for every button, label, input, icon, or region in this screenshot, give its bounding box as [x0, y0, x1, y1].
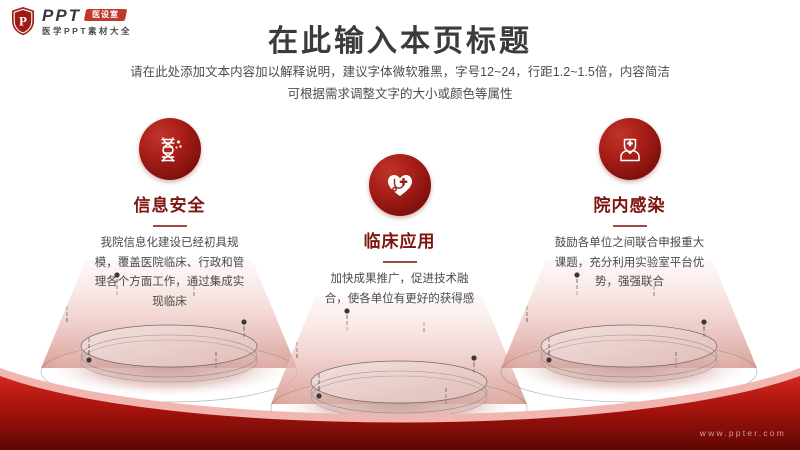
footer-website: www.ppter.com	[700, 428, 786, 438]
subtitle-line-1: 请在此处添加文本内容加以解释说明，建议字体微软雅黑，字号12~24，行距1.2~…	[80, 62, 720, 84]
heading-divider	[383, 261, 417, 263]
heading-divider	[613, 225, 647, 227]
slide-canvas: P PPT 医设室 医学PPT素材大全 在此输入本页标题 请在此处添加文本内容加…	[0, 0, 800, 450]
column-body-text: 鼓励各单位之间联合申报重大课题，充分利用实验室平台优势，强强联合	[555, 234, 705, 293]
subtitle-line-2: 可根据需求调整文字的大小或颜色等属性	[80, 84, 720, 106]
column-hospital-infection[interactable]: 院内感染 鼓励各单位之间联合申报重大课题，充分利用实验室平台优势，强强联合	[512, 118, 747, 293]
column-body-text: 加快成果推广，促进技术融合，使各单位有更好的获得感	[325, 270, 475, 309]
column-info-security[interactable]: 信息安全 我院信息化建设已经初具规模，覆盖医院临床、行政和管理各个方面工作，通过…	[52, 118, 287, 312]
column-heading: 信息安全	[52, 191, 287, 216]
column-heading: 院内感染	[512, 191, 747, 216]
heart-stethoscope-icon[interactable]	[369, 154, 431, 216]
bottom-wave-decoration	[0, 360, 800, 450]
doctor-icon[interactable]	[599, 118, 661, 180]
page-title: 在此输入本页标题	[0, 16, 800, 60]
column-heading: 临床应用	[282, 227, 517, 252]
column-body-text: 我院信息化建设已经初具规模，覆盖医院临床、行政和管理各个方面工作，通过集成实现临…	[95, 234, 245, 312]
page-subtitle: 请在此处添加文本内容加以解释说明，建议字体微软雅黑，字号12~24，行距1.2~…	[80, 62, 720, 106]
heading-divider	[153, 225, 187, 227]
column-clinical-application[interactable]: 临床应用 加快成果推广，促进技术融合，使各单位有更好的获得感	[282, 154, 517, 309]
dna-helix-icon[interactable]	[139, 118, 201, 180]
